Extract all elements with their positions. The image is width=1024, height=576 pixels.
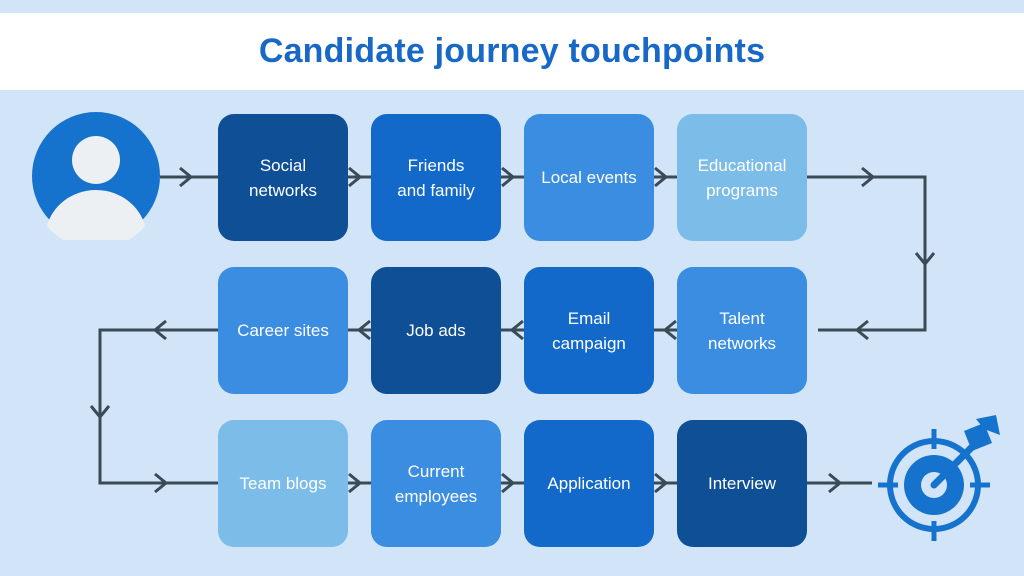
connector-row2-to-row3 bbox=[100, 330, 218, 483]
node-career-sites[interactable]: Career sites bbox=[218, 267, 348, 394]
arrowhead-jobads-to-career bbox=[359, 321, 370, 339]
arrowhead-social-to-friends bbox=[349, 168, 360, 186]
node-application[interactable]: Application bbox=[524, 420, 654, 547]
target-arrow bbox=[934, 415, 1000, 485]
arrowhead-local-to-educational bbox=[655, 168, 666, 186]
arrowhead-email-to-jobads bbox=[512, 321, 523, 339]
node-current-employees[interactable]: Current employees bbox=[371, 420, 501, 547]
arrowhead-row1-wrap-down bbox=[916, 253, 934, 264]
connector-row1-to-row2 bbox=[807, 177, 925, 330]
person-avatar-icon bbox=[32, 112, 160, 240]
arrowhead-row2-wrap-into-teamblogs bbox=[155, 474, 166, 492]
arrowhead-talent-to-email bbox=[665, 321, 676, 339]
arrowhead-row1-wrap-into-talent bbox=[857, 321, 868, 339]
arrowhead-row1-wrap-right bbox=[862, 168, 873, 186]
page-title: Candidate journey touchpoints bbox=[259, 32, 765, 71]
flow-diagram: Social networks Friends and family Local… bbox=[0, 90, 1024, 576]
slide-canvas: Candidate journey touchpoints bbox=[0, 0, 1024, 576]
node-team-blogs[interactable]: Team blogs bbox=[218, 420, 348, 547]
node-talent-networks[interactable]: Talent networks bbox=[677, 267, 807, 394]
arrowhead-friends-to-local bbox=[502, 168, 513, 186]
title-band: Candidate journey touchpoints bbox=[0, 13, 1024, 90]
arrowhead-row2-wrap-down bbox=[91, 406, 109, 417]
node-local-events[interactable]: Local events bbox=[524, 114, 654, 241]
node-interview[interactable]: Interview bbox=[677, 420, 807, 547]
target-bullseye-icon bbox=[872, 415, 1008, 551]
arrowhead-application-to-interview bbox=[655, 474, 666, 492]
node-educational-programs[interactable]: Educational programs bbox=[677, 114, 807, 241]
arrowhead-teamblogs-to-current bbox=[349, 474, 360, 492]
arrowhead-avatar-to-social bbox=[180, 168, 191, 186]
node-email-campaign[interactable]: Email campaign bbox=[524, 267, 654, 394]
avatar-head bbox=[72, 136, 120, 184]
node-social-networks[interactable]: Social networks bbox=[218, 114, 348, 241]
arrowhead-row2-wrap-left bbox=[155, 321, 166, 339]
node-friends-and-family[interactable]: Friends and family bbox=[371, 114, 501, 241]
node-job-ads[interactable]: Job ads bbox=[371, 267, 501, 394]
arrowhead-current-to-application bbox=[502, 474, 513, 492]
arrowhead-interview-to-target bbox=[829, 474, 840, 492]
